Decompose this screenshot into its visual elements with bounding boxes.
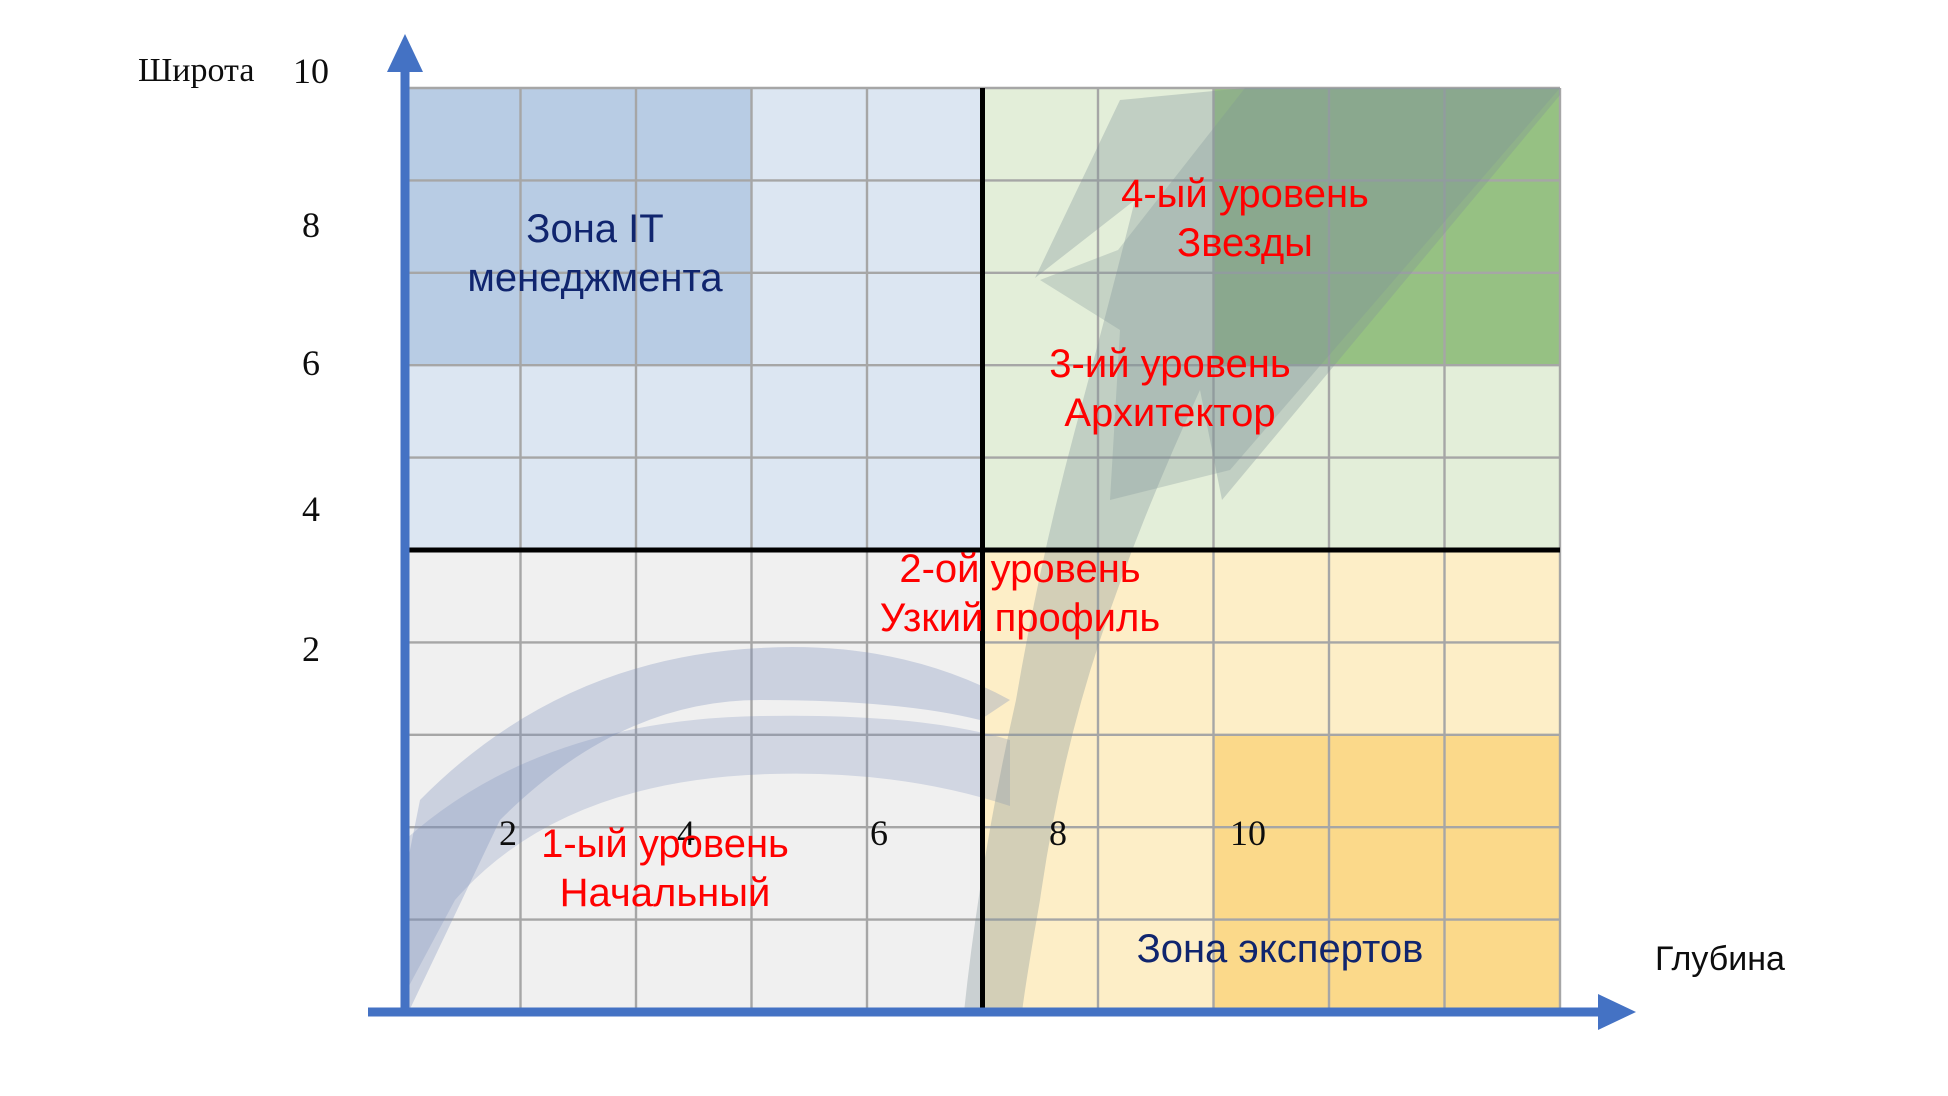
x-axis-title: Глубина bbox=[1655, 940, 1785, 979]
x-tick-10: 10 bbox=[1213, 812, 1283, 854]
y-tick-2: 2 bbox=[281, 628, 341, 670]
y-tick-10: 10 bbox=[281, 50, 341, 92]
x-tick-2: 2 bbox=[478, 812, 538, 854]
y-axis-title: Широта bbox=[138, 52, 254, 90]
diagram-canvas: Широта Глубина 10 8 6 4 2 2 4 6 8 10 Зон… bbox=[0, 0, 1948, 1096]
accent-experts bbox=[1214, 735, 1561, 1012]
accent-it-management bbox=[405, 88, 752, 365]
y-tick-6: 6 bbox=[281, 342, 341, 384]
competency-matrix-svg bbox=[0, 0, 1948, 1096]
x-tick-8: 8 bbox=[1028, 812, 1088, 854]
y-axis-arrowhead bbox=[387, 34, 423, 72]
x-axis-arrowhead bbox=[1598, 994, 1636, 1030]
x-tick-6: 6 bbox=[849, 812, 909, 854]
y-tick-8: 8 bbox=[281, 204, 341, 246]
y-tick-4: 4 bbox=[281, 488, 341, 530]
x-tick-4: 4 bbox=[656, 812, 716, 854]
